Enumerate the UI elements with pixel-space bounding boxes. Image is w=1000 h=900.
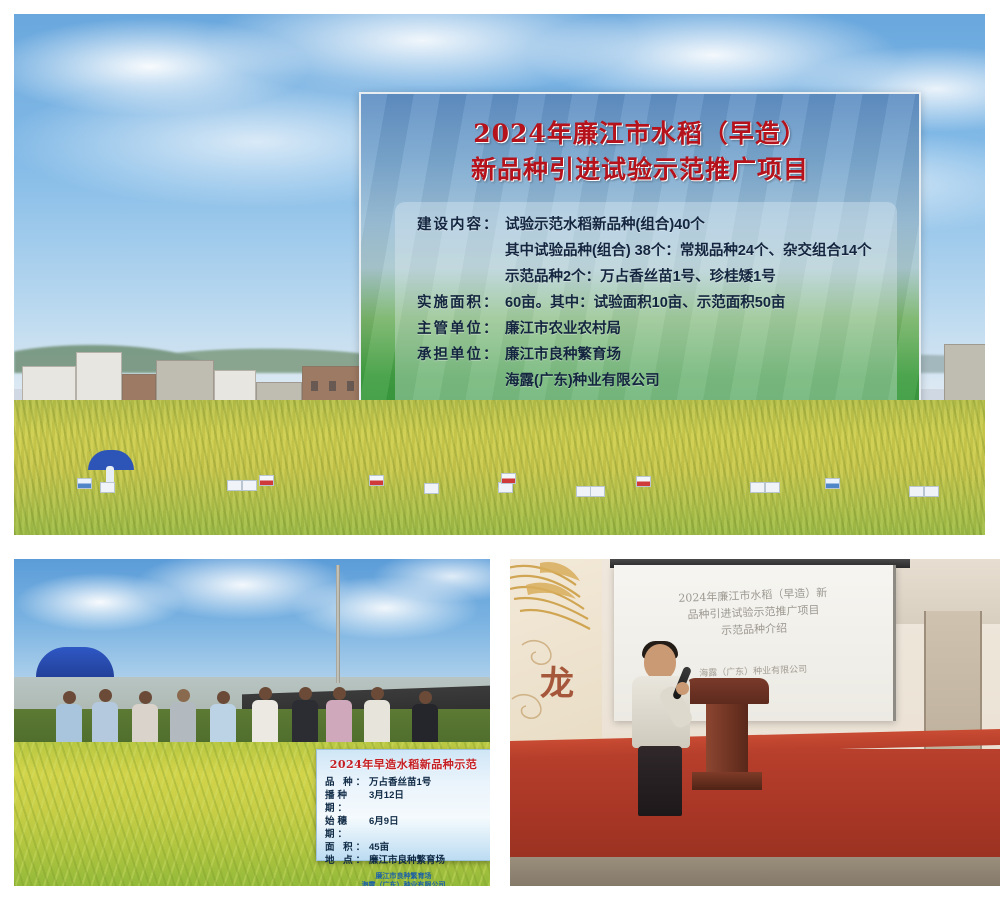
field-sign-value: 廉江市良种繁育场 [369,854,482,867]
plot-marker-sign [825,478,840,489]
plot-marker-sign [750,482,765,493]
field-sign-footer-line-2: 海露（广东）种业有限公司 [325,881,482,886]
speaker-trousers [638,746,682,816]
plot-marker-sign [227,480,242,491]
field-sign-key: 始穗期： [325,815,369,841]
podium-base [692,772,762,790]
billboard-row-value: 试验示范水稻新品种(组合)40个 [505,212,895,238]
speaker-person [626,644,696,816]
demonstration-plot-sign: 2024年早造水稻新品种示范 品 种： 万占香丝苗1号 播种期： 3月12日 始… [316,749,490,861]
speaker-head [644,644,676,680]
utility-pole [336,565,340,683]
projection-screen-title: 2024年廉江市水稻（早造）新 品种引进试验示范推广项目 示范品种介绍 [627,582,880,643]
plot-marker-sign [424,483,439,494]
billboard-row-label: 承担单位： [417,342,505,368]
billboard-title: 2024年廉江市水稻（早造） 新品种引进试验示范推广项目 [361,116,919,188]
rice-field [14,400,985,535]
billboard-row: 主管单位： 廉江市农业农村局 [417,316,895,342]
field-sign-key: 品 种： [325,776,369,789]
billboard-row-label: 建设内容： [417,212,505,238]
field-sign-footer-line-1: 廉江市良种繁育场 [325,872,482,881]
phoenix-mural-icon: 龙 [510,559,602,765]
plot-marker-sign [636,476,651,487]
bottom-right-photo-indoor-presentation: 龙 2024年廉江市水稻（早造）新 品种引进试验示范推广项目 示范品种介绍 海露… [510,559,1000,886]
billboard-row: 建设内容： 试验示范水稻新品种(组合)40个 [417,212,895,238]
plot-marker-sign [100,482,115,493]
billboard-row-value: 廉江市农业农村局 [505,316,895,342]
billboard-row: 建设内容： 示范品种2个：万占香丝苗1号、珍桂矮1号 [417,264,895,290]
svg-text:龙: 龙 [540,664,574,704]
field-sign-title: 2024年早造水稻新品种示范 [325,756,482,772]
billboard-row-value: 其中试验品种(组合) 38个：常规品种24个、杂交组合14个 [505,238,895,264]
billboard-row-label: 主管单位： [417,316,505,342]
field-sign-key: 地 点： [325,854,369,867]
plot-marker-sign [259,475,274,486]
phoenix-mural: 龙 [510,559,602,765]
speaker-hand [676,682,689,695]
field-sign-value: 3月12日 [369,789,482,815]
photo-collage: 2024年廉江市水稻（早造） 新品种引进试验示范推广项目 建设内容： 试验示范水… [0,0,1000,900]
field-sign-value: 万占香丝苗1号 [369,776,482,789]
billboard-row: 建设内容： 其中试验品种(组合) 38个：常规品种24个、杂交组合14个 [417,238,895,264]
field-sign-value: 45亩 [369,841,482,854]
billboard-row-label: 实施面积： [417,290,505,316]
billboard-body: 建设内容： 试验示范水稻新品种(组合)40个 建设内容： 其中试验品种(组合) … [417,212,895,394]
billboard-row-value: 廉江市良种繁育场 [505,342,895,368]
plot-marker-sign [501,473,516,484]
floor [510,857,1000,886]
billboard-row-value: 示范品种2个：万占香丝苗1号、珍桂矮1号 [505,264,895,290]
billboard-title-line-2: 新品种引进试验示范推广项目 [361,152,919,188]
field-sign-row: 面 积： 45亩 [325,841,482,854]
billboard-row: 实施面积： 60亩。其中：试验面积10亩、示范面积50亩 [417,290,895,316]
plot-marker-sign [576,486,591,497]
billboard-row: 承担单位： 廉江市良种繁育场 [417,342,895,368]
top-photo-billboard-in-field: 2024年廉江市水稻（早造） 新品种引进试验示范推广项目 建设内容： 试验示范水… [14,14,985,535]
billboard-row-value: 海露(广东)种业有限公司 [505,368,895,394]
plot-marker-sign [77,478,92,489]
field-sign-row: 播种期： 3月12日 [325,789,482,815]
plot-marker-sign [590,486,605,497]
field-sign-key: 播种期： [325,789,369,815]
billboard-row: 承担单位： 海露(广东)种业有限公司 [417,368,895,394]
field-sign-footer: 廉江市良种繁育场 海露（广东）种业有限公司 [325,872,482,886]
podium-top [685,678,769,704]
plot-marker-sign [369,475,384,486]
bottom-left-photo-field-inspection: 2024年早造水稻新品种示范 品 种： 万占香丝苗1号 播种期： 3月12日 始… [14,559,490,886]
plot-marker-sign [765,482,780,493]
field-sign-row: 始穗期： 6月9日 [325,815,482,841]
plot-marker-sign [909,486,924,497]
field-sign-row: 品 种： 万占香丝苗1号 [325,776,482,789]
plot-marker-sign [242,480,257,491]
field-sign-key: 面 积： [325,841,369,854]
podium-column [706,704,748,774]
billboard-title-line-1: 2024年廉江市水稻（早造） [361,116,919,152]
field-sign-value: 6月9日 [369,815,482,841]
billboard-row-value: 60亩。其中：试验面积10亩、示范面积50亩 [505,290,895,316]
podium [696,678,758,790]
field-sign-row: 地 点： 廉江市良种繁育场 [325,854,482,867]
plot-marker-sign [924,486,939,497]
